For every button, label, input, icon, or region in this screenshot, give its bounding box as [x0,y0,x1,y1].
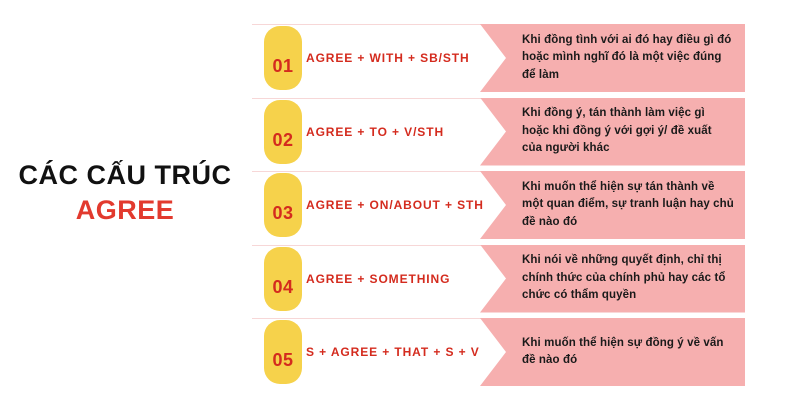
description-text: Khi đồng ý, tán thành làm việc gì hoặc k… [480,105,745,157]
badge-number: 05 [264,350,302,371]
formula-text: AGREE + ON/ABOUT + STH [306,198,484,212]
description-text: Khi nói về những quyết định, chỉ thị chí… [480,252,745,304]
page-title-keyword: AGREE [0,194,250,228]
number-badge: 04 [264,247,302,311]
description-text: Khi đồng tình với ai đó hay điều gì đó h… [480,32,745,84]
structure-row: Khi đồng tình với ai đó hay điều gì đó h… [252,24,800,92]
formula-text: AGREE + WITH + SB/STH [306,51,470,65]
description-banner: Khi đồng tình với ai đó hay điều gì đó h… [480,24,745,92]
formula-container: AGREE + SOMETHING [306,245,450,313]
formula-container: AGREE + ON/ABOUT + STH [306,171,484,239]
badge-number: 02 [264,130,302,151]
infographic-canvas: CÁC CẤU TRÚC AGREE Khi đồng tình với ai … [0,0,800,418]
description-text: Khi muốn thể hiện sự đồng ý về vấn đề nà… [480,335,745,370]
description-banner: Khi nói về những quyết định, chỉ thị chí… [480,245,745,313]
badge-number: 04 [264,277,302,298]
number-badge: 02 [264,100,302,164]
structure-list: Khi đồng tình với ai đó hay điều gì đó h… [252,24,800,396]
formula-container: AGREE + WITH + SB/STH [306,24,470,92]
formula-text: S + AGREE + THAT + S + V [306,345,480,359]
number-badge: 05 [264,320,302,384]
formula-container: S + AGREE + THAT + S + V [306,318,480,386]
structure-row: Khi nói về những quyết định, chỉ thị chí… [252,245,800,313]
number-badge: 03 [264,173,302,237]
structure-row: Khi muốn thể hiện sự tán thành về một qu… [252,171,800,239]
structure-row: Khi muốn thể hiện sự đồng ý về vấn đề nà… [252,318,800,386]
title-block: CÁC CẤU TRÚC AGREE [0,160,250,228]
description-banner: Khi muốn thể hiện sự tán thành về một qu… [480,171,745,239]
description-banner: Khi muốn thể hiện sự đồng ý về vấn đề nà… [480,318,745,386]
badge-number: 01 [264,56,302,77]
formula-text: AGREE + SOMETHING [306,272,450,286]
page-title-primary: CÁC CẤU TRÚC [0,160,250,191]
description-text: Khi muốn thể hiện sự tán thành về một qu… [480,179,745,231]
description-banner: Khi đồng ý, tán thành làm việc gì hoặc k… [480,98,745,166]
badge-number: 03 [264,203,302,224]
formula-text: AGREE + TO + V/STH [306,125,444,139]
structure-row: Khi đồng ý, tán thành làm việc gì hoặc k… [252,98,800,166]
formula-container: AGREE + TO + V/STH [306,98,444,166]
number-badge: 01 [264,26,302,90]
